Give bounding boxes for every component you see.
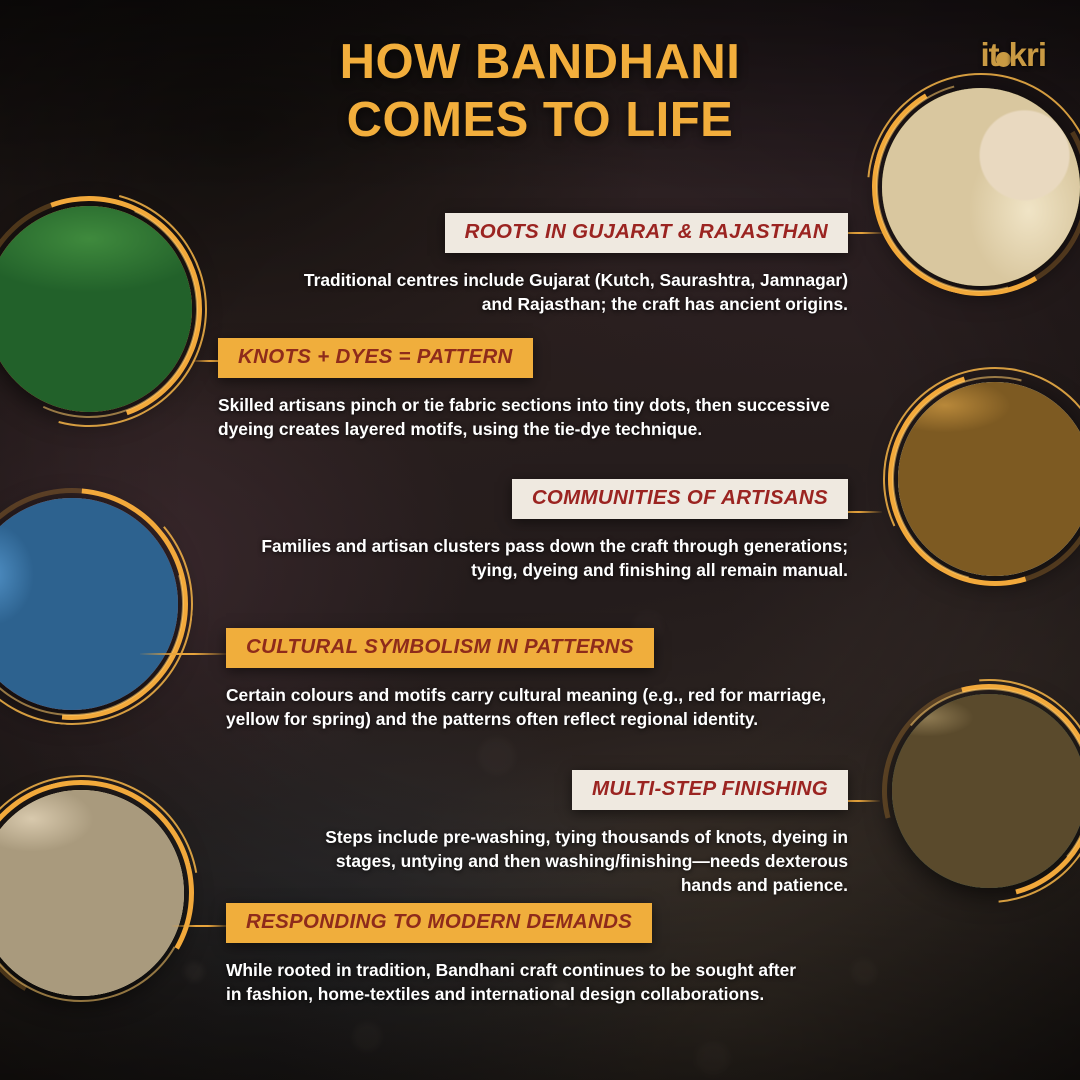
brand-logo-text-part-1: it (980, 36, 998, 73)
section-heading-finishing[interactable]: MULTI-STEP FINISHING (572, 770, 848, 810)
section-body-roots: Traditional centres include Gujarat (Kut… (300, 268, 848, 316)
section-heading-roots[interactable]: ROOTS IN GUJARAT & RAJASTHAN (445, 213, 848, 253)
photo-disc (0, 790, 184, 996)
connector-line-modern (172, 925, 232, 927)
photo-disc (898, 382, 1080, 576)
infographic-poster: HOW BANDHANI COMES TO LIFE itkri (0, 0, 1080, 1080)
brand-logo[interactable]: itkri (980, 36, 1046, 74)
section-finishing: MULTI-STEP FINISHING Steps include pre-w… (320, 770, 848, 897)
page-title-line-1: HOW BANDHANI (340, 35, 741, 89)
section-heading-symbolism[interactable]: CULTURAL SYMBOLISM IN PATTERNS (226, 628, 654, 668)
photo-man-lifting-yellow-cloth (0, 780, 194, 1006)
section-roots: ROOTS IN GUJARAT & RAJASTHAN Traditional… (300, 213, 848, 316)
brand-logo-text-part-2: kri (1009, 36, 1046, 73)
photo-indigo-dye-vat (882, 684, 1080, 898)
photo-image (0, 498, 178, 710)
photo-image (0, 206, 192, 412)
photo-dyer-at-blue-tub (888, 372, 1080, 586)
page-title-line-2: COMES TO LIFE (0, 92, 1080, 150)
section-heading-communities[interactable]: COMMUNITIES OF ARTISANS (512, 479, 848, 519)
photo-image (898, 382, 1080, 576)
photo-disc (0, 206, 192, 412)
section-body-modern-demands: While rooted in tradition, Bandhani craf… (226, 958, 806, 1006)
section-body-finishing: Steps include pre-washing, tying thousan… (320, 825, 848, 897)
photo-hands-tying-red-fabric (0, 196, 202, 422)
photo-image (0, 790, 184, 996)
connector-line-symbolism (140, 653, 230, 655)
section-body-communities: Families and artisan clusters pass down … (246, 534, 848, 582)
section-communities: COMMUNITIES OF ARTISANS Families and art… (246, 479, 848, 582)
photo-disc (892, 694, 1080, 888)
photo-image (892, 694, 1080, 888)
section-heading-knots-dyes[interactable]: KNOTS + DYES = PATTERN (218, 338, 533, 378)
photo-woman-tying-cream-cloth (0, 488, 188, 720)
section-body-knots-dyes: Skilled artisans pinch or tie fabric sec… (218, 393, 836, 441)
photo-disc (0, 498, 178, 710)
page-title: HOW BANDHANI COMES TO LIFE (0, 34, 1080, 150)
section-heading-modern-demands[interactable]: RESPONDING TO MODERN DEMANDS (226, 903, 652, 943)
section-modern-demands: RESPONDING TO MODERN DEMANDS While roote… (226, 903, 806, 1006)
section-knots-dyes: KNOTS + DYES = PATTERN Skilled artisans … (218, 338, 836, 441)
section-body-symbolism: Certain colours and motifs carry cultura… (226, 683, 836, 731)
section-symbolism: CULTURAL SYMBOLISM IN PATTERNS Certain c… (226, 628, 836, 731)
